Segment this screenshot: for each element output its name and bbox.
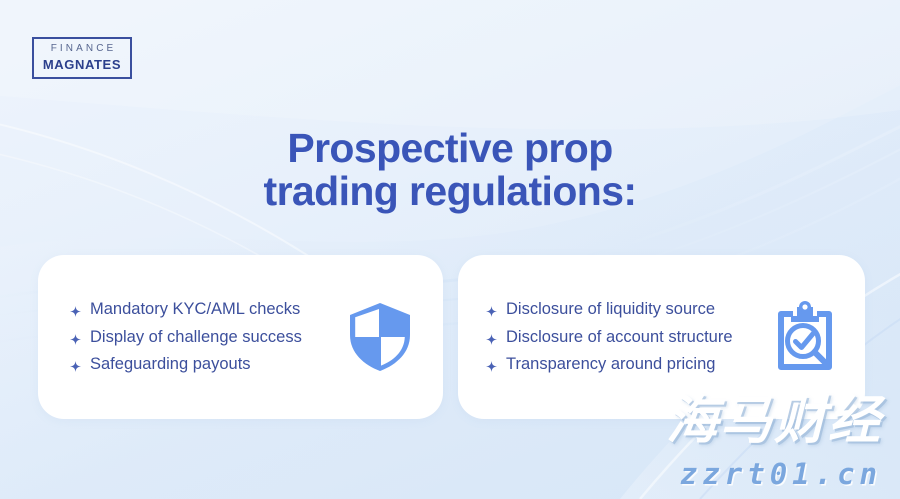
page-title-line-1: Prospective prop (0, 127, 900, 169)
sparkle-icon (486, 332, 497, 343)
sparkle-icon (70, 332, 81, 343)
list-item-label: Disclosure of account structure (506, 329, 733, 346)
card-left[interactable]: Mandatory KYC/AML checks Display of chal… (38, 255, 443, 419)
logo-line-magnates: MAGNATES (43, 57, 121, 73)
clipboard-check-magnifier-icon (773, 301, 837, 373)
list-item: Mandatory KYC/AML checks (70, 296, 347, 324)
logo-line-finance: FINANCE (48, 43, 117, 56)
bullet-list-right: Disclosure of liquidity source Disclosur… (458, 296, 773, 379)
page-title-line-2: trading regulations: (0, 170, 900, 212)
shield-icon (347, 302, 413, 372)
list-item-label: Mandatory KYC/AML checks (90, 301, 300, 318)
list-item: Safeguarding payouts (70, 351, 347, 379)
sparkle-icon (486, 359, 497, 370)
background-wave-decoration (0, 0, 900, 499)
list-item: Display of challenge success (70, 323, 347, 351)
page-title: Prospective prop trading regulations: (0, 127, 900, 211)
list-item: Transparency around pricing (486, 351, 773, 379)
finance-magnates-logo[interactable]: FINANCE MAGNATES (32, 37, 132, 79)
list-item-label: Transparency around pricing (506, 356, 715, 373)
list-item-label: Disclosure of liquidity source (506, 301, 715, 318)
watermark-url: zzrt01.cn (680, 457, 882, 491)
list-item: Disclosure of liquidity source (486, 296, 773, 324)
list-item-label: Safeguarding payouts (90, 356, 251, 373)
sparkle-icon (70, 359, 81, 370)
card-right[interactable]: Disclosure of liquidity source Disclosur… (458, 255, 865, 419)
sparkle-icon (486, 304, 497, 315)
sparkle-icon (70, 304, 81, 315)
list-item: Disclosure of account structure (486, 323, 773, 351)
bullet-list-left: Mandatory KYC/AML checks Display of chal… (38, 296, 347, 379)
slide-canvas: FINANCE MAGNATES Prospective prop tradin… (0, 0, 900, 499)
list-item-label: Display of challenge success (90, 329, 302, 346)
